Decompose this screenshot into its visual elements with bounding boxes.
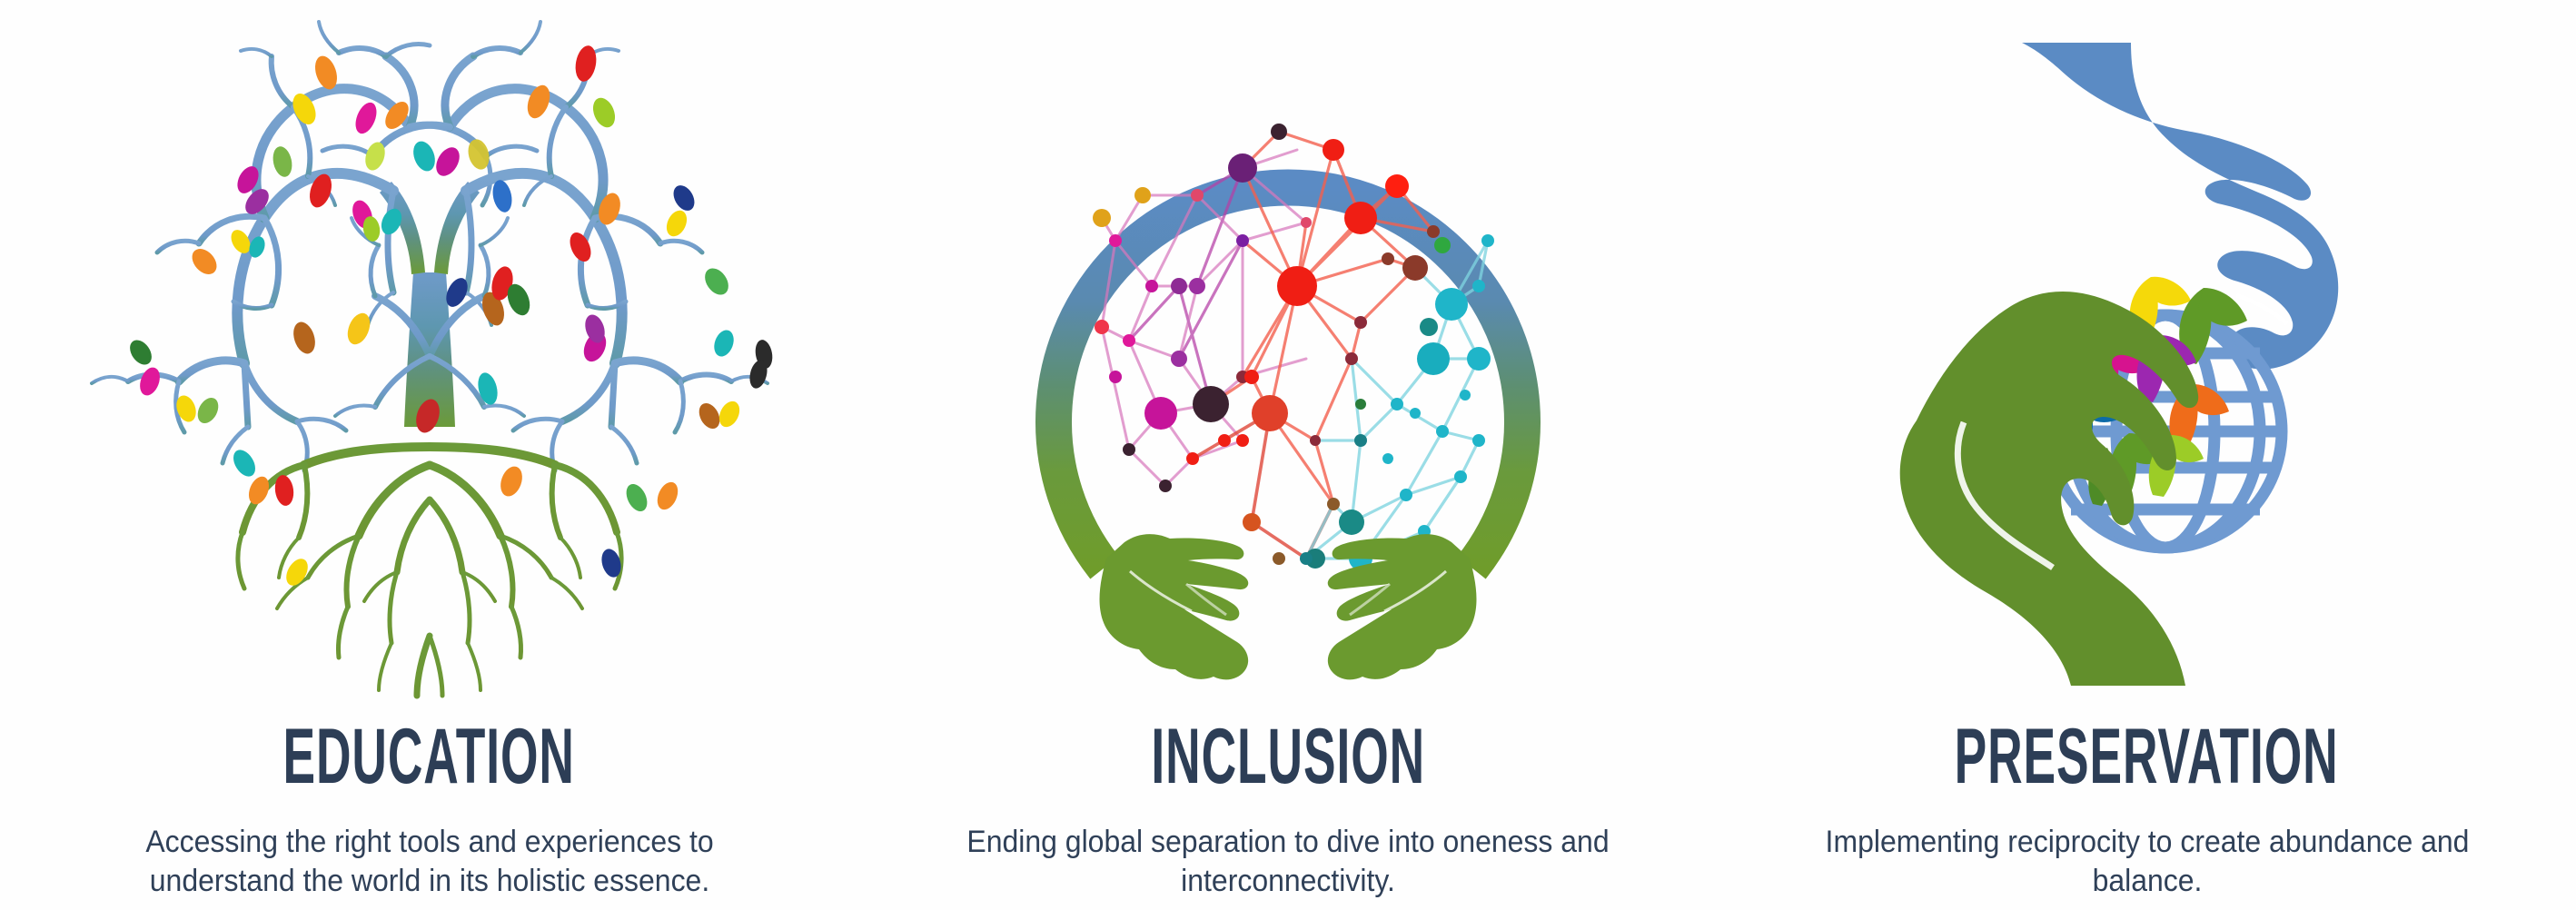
inclusion-heading-slot: INCLUSION [859, 717, 1718, 816]
page-title-preservation: PRESERVATION [1955, 717, 2339, 796]
inclusion-icon-wrap [859, 0, 1718, 717]
preservation-heading-slot: PRESERVATION [1718, 717, 2576, 816]
description-inclusion: Ending global separation to dive into on… [942, 823, 1633, 901]
description-education: Accessing the right tools and experience… [88, 823, 771, 901]
heart-tree-with-roots-icon [66, 0, 793, 717]
values-column-preservation: PRESERVATION Implementing reciprocity to… [1718, 0, 2576, 910]
education-body-slot: Accessing the right tools and experience… [0, 816, 858, 901]
preservation-body-slot: Implementing reciprocity to create abund… [1718, 816, 2576, 901]
values-column-inclusion: INCLUSION Ending global separation to di… [859, 0, 1718, 910]
hands-holding-network-globe-icon [970, 14, 1606, 704]
values-board: EDUCATION Accessing the right tools and … [0, 0, 2576, 910]
description-preservation: Implementing reciprocity to create abund… [1788, 823, 2506, 901]
education-icon-wrap [0, 0, 858, 717]
page-title-inclusion: INCLUSION [1151, 717, 1425, 796]
right-hand [1328, 534, 1477, 679]
circle-ring [1054, 188, 1522, 568]
page-title-education: EDUCATION [283, 717, 575, 796]
left-hand [1100, 534, 1249, 679]
education-heading-slot: EDUCATION [0, 717, 858, 816]
values-column-education: EDUCATION Accessing the right tools and … [0, 0, 858, 910]
preservation-icon-wrap [1718, 0, 2576, 717]
hands-protecting-globe-icon [1866, 23, 2429, 695]
inclusion-body-slot: Ending global separation to dive into on… [859, 816, 1718, 901]
